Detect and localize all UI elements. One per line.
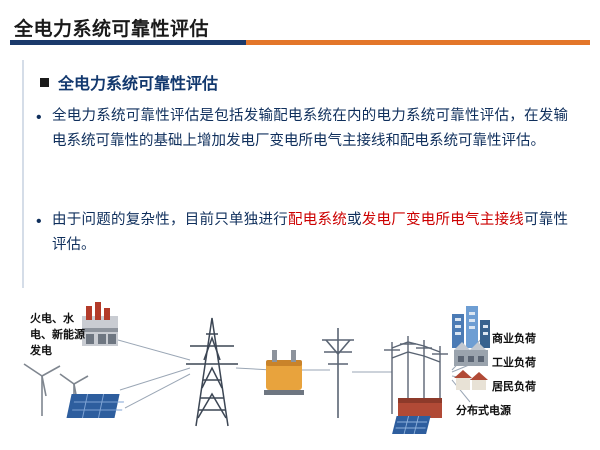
office-building-icon [452, 306, 490, 348]
residential-load-label: 居民负荷 [492, 378, 536, 394]
distributed-generation-label: 分布式电源 [456, 402, 511, 418]
paragraph-2-run-3: 或 [347, 212, 362, 228]
paragraph-2: •由于问题的复杂性，目前只单独进行配电系统或发电厂变电所电气主接线可靠性评估。 [52, 208, 568, 258]
paragraph-2-run-1: 由于问题的复杂性，目前只单独进行 [52, 212, 288, 228]
distribution-pole-icon [322, 328, 354, 418]
section-heading-label: 全电力系统可靠性评估 [58, 70, 218, 94]
paragraph-2-run-2-highlight: 配电系统 [288, 212, 347, 228]
title-divider-navy [10, 40, 246, 45]
slide-title-bar: 全电力系统可靠性评估 [0, 8, 600, 42]
distribution-network-icon [384, 336, 448, 418]
thermal-plant-icon [82, 302, 118, 346]
section-heading: 全电力系统可靠性评估 [40, 70, 218, 94]
square-bullet-icon [40, 78, 49, 87]
title-divider-orange [246, 40, 590, 45]
bullet-dot-icon: • [36, 104, 42, 132]
industrial-load-label: 工业负荷 [492, 354, 536, 370]
bullet-dot-icon: • [36, 208, 42, 236]
paragraph-1-text: 全电力系统可靠性评估是包括发输配电系统在内的电力系统可靠性评估，在发输电系统可靠… [52, 108, 568, 149]
generation-source-label: 火电、水电、新能源发电 [30, 312, 86, 360]
paragraph-1: •全电力系统可靠性评估是包括发输配电系统在内的电力系统可靠性评估，在发输电系统可… [52, 104, 568, 154]
diagram-canvas [0, 298, 600, 450]
commercial-load-label: 商业负荷 [492, 330, 536, 346]
slide-root: 全电力系统可靠性评估 全电力系统可靠性评估 •全电力系统可靠性评估是包括发输配电… [0, 0, 600, 450]
transmission-tower-icon [186, 318, 238, 426]
page-title: 全电力系统可靠性评估 [14, 14, 209, 41]
substation-transformer-icon [264, 350, 304, 395]
content-panel: 全电力系统可靠性评估 •全电力系统可靠性评估是包括发输配电系统在内的电力系统可靠… [22, 60, 578, 288]
paragraph-2-run-4-highlight: 发电厂变电所电气主接线 [362, 212, 524, 228]
title-divider [10, 40, 590, 45]
distributed-solar-icon [392, 416, 430, 434]
solar-panel-icon [66, 394, 123, 418]
house-icon [454, 370, 488, 390]
power-system-diagram: 火电、水电、新能源发电 商业负荷 工业负荷 居民负荷 分布式电源 [0, 298, 600, 450]
